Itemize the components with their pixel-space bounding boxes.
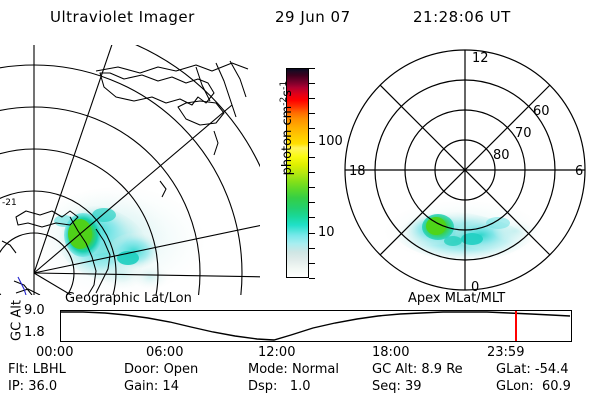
colorbar-tick: [309, 263, 315, 264]
colorbar-tick: [309, 83, 315, 84]
status-row-1: Flt: LBHL Door: Open Mode: Normal GC Alt…: [8, 362, 598, 379]
colorbar-tick: [309, 157, 315, 158]
colorbar-tick: [309, 248, 315, 249]
apex-dial-panel[interactable]: 12 18 6 0 60 70 80: [335, 45, 595, 295]
apex-panel-title: Apex MLat/MLT: [408, 291, 505, 306]
geographic-plot-svg: -21: [0, 45, 260, 295]
colorbar-unit-s: s: [280, 90, 295, 97]
colorbar-tick-major: [309, 233, 315, 234]
colorbar-tick: [309, 68, 315, 69]
mlat-label-60: 60: [533, 104, 550, 119]
colorbar-tick: [309, 278, 315, 279]
geographic-panel-title: Geographic Lat/Lon: [65, 291, 192, 306]
apex-plot-svg: 12 18 6 0 60 70 80: [335, 45, 595, 295]
colorbar-tick: [309, 202, 315, 203]
status-glat: GLat: -54.4: [496, 362, 569, 377]
colorbar-container: 100 10 photon cm-2s-1: [255, 60, 335, 290]
colorbar-tick-major: [309, 142, 315, 143]
colorbar-tick: [309, 113, 315, 114]
colorbar-tick: [309, 172, 315, 173]
strip-chart-xtick-0: 00:00: [36, 345, 73, 360]
status-glon: GLon: 60.9: [496, 379, 571, 394]
colorbar-tick: [309, 128, 315, 129]
aurora-emission-apex: [385, 201, 541, 261]
strip-chart-ytick-bottom: 1.8: [24, 325, 45, 340]
observation-time: 21:28:06 UT: [413, 8, 511, 26]
colorbar-unit-photon: photon cm: [280, 106, 295, 176]
colorbar-tick: [309, 98, 315, 99]
geographic-grid-label: -21: [2, 198, 17, 208]
observation-date: 29 Jun 07: [275, 8, 351, 26]
status-seq: Seq: 39: [372, 379, 422, 394]
status-row-2: IP: 36.0 Gain: 14 Dsp: 1.0 Seq: 39 GLon:…: [8, 379, 598, 396]
strip-chart-xtick-1: 06:00: [146, 345, 183, 360]
strip-chart-xtick-3: 18:00: [372, 345, 409, 360]
status-block: Flt: LBHL Door: Open Mode: Normal GC Alt…: [8, 362, 598, 398]
colorbar-unit-exp2: -1: [279, 81, 289, 90]
colorbar-label-10: 10: [318, 225, 335, 240]
mlat-label-70: 70: [515, 126, 532, 141]
mlt-spokes: [345, 50, 585, 290]
mlt-label-18: 18: [349, 164, 366, 179]
mlat-label-80: 80: [493, 148, 510, 163]
strip-chart-xtick-4: 23:59: [487, 345, 524, 360]
strip-chart-ylabel: GC Alt: [10, 297, 25, 345]
altitude-trace: [61, 312, 570, 340]
colorbar-tick: [309, 217, 315, 218]
status-dsp: Dsp: 1.0: [248, 379, 311, 394]
colorbar-unit-exp1: -2: [279, 97, 289, 106]
status-gain: Gain: 14: [124, 379, 179, 394]
strip-chart-ytick-top: 9.0: [24, 303, 45, 318]
mlt-label-6: 6: [575, 164, 583, 179]
orbit-altitude-strip-chart[interactable]: [60, 310, 572, 342]
status-ip: IP: 36.0: [8, 379, 57, 394]
strip-chart-xtick-2: 12:00: [258, 345, 295, 360]
colorbar-tick: [309, 187, 315, 188]
status-mode: Mode: Normal: [248, 362, 339, 377]
status-door: Door: Open: [124, 362, 198, 377]
mlt-label-12: 12: [472, 51, 489, 66]
instrument-title: Ultraviolet Imager: [50, 8, 195, 26]
status-gc-alt: GC Alt: 8.9 Re: [372, 362, 463, 377]
time-cursor[interactable]: [515, 311, 517, 341]
altitude-trace-svg: [61, 311, 571, 341]
colorbar-axis-label: photon cm-2s-1: [279, 68, 295, 188]
status-flt: Flt: LBHL: [8, 362, 66, 377]
header-bar: Ultraviolet Imager 29 Jun 07 21:28:06 UT: [0, 6, 600, 32]
geographic-image-panel[interactable]: -21: [0, 45, 260, 295]
